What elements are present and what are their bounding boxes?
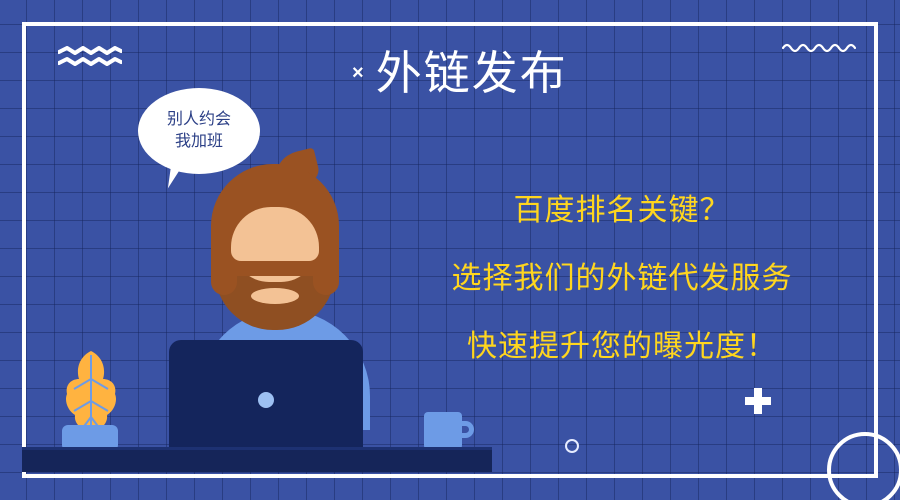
corner-circle-icon xyxy=(827,432,900,500)
promo-line-3: 快速提升您的曝光度！ xyxy=(396,332,848,362)
desk-surface xyxy=(22,450,492,472)
plus-accent-icon xyxy=(745,388,771,414)
coffee-mug xyxy=(424,412,462,452)
plant-leaf-icon xyxy=(62,349,120,433)
speech-bubble-line-1: 别人约会 xyxy=(167,109,231,131)
double-wave-icon xyxy=(58,46,122,68)
laptop-logo-icon xyxy=(258,392,274,408)
small-circle-icon xyxy=(565,439,579,453)
single-wave-icon xyxy=(782,40,856,54)
banner-title: × 外链发布 xyxy=(352,50,568,96)
speech-bubble: 别人约会 我加班 xyxy=(138,88,260,174)
banner-canvas: × 外链发布 别人约会 我加班 xyxy=(0,0,900,500)
promo-line-1: 百度排名关键？ xyxy=(396,196,848,226)
coffee-mug-handle xyxy=(458,421,474,438)
page-title: 外链发布 xyxy=(376,50,568,96)
promo-text-block: 百度排名关键？ 选择我们的外链代发服务 快速提升您的曝光度！ xyxy=(396,196,848,362)
character-mouth xyxy=(251,288,299,304)
promo-line-2: 选择我们的外链代发服务 xyxy=(396,264,848,294)
laptop-screen xyxy=(169,340,363,456)
speech-bubble-line-2: 我加班 xyxy=(175,131,223,153)
title-cross-icon: × xyxy=(352,63,364,83)
